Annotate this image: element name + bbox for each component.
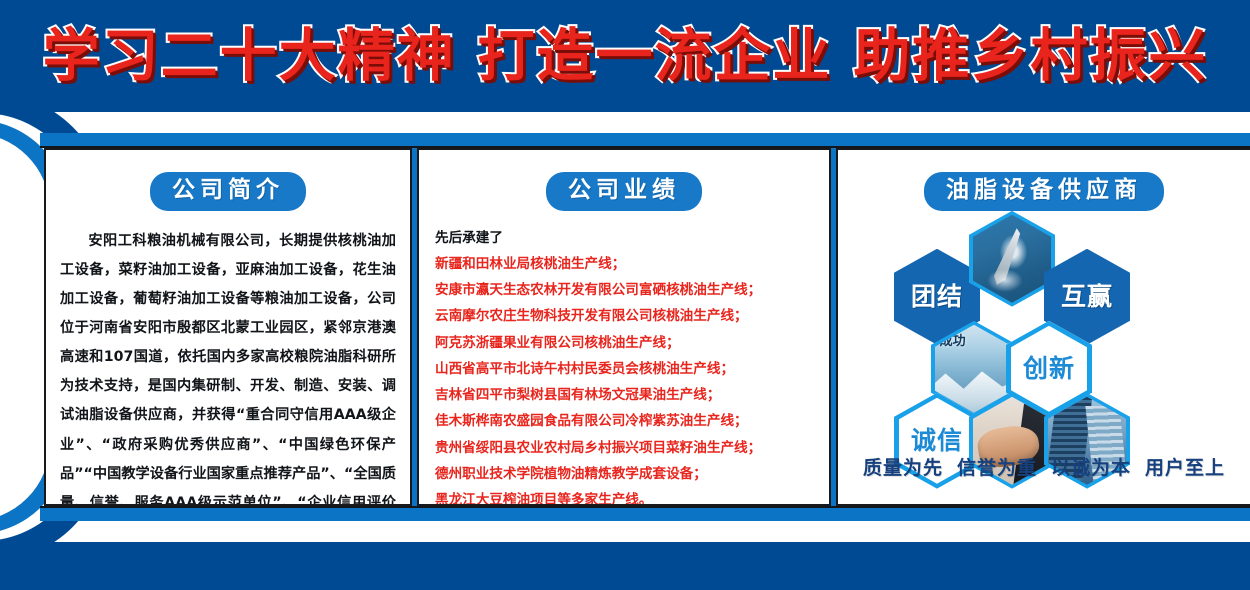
company-performance-badge: 公司业绩 <box>546 172 702 211</box>
performance-project-line: 贵州省绥阳县农业农村局乡村振兴项目菜籽油生产线； <box>435 435 829 461</box>
hex-tuanjie-label: 团结 <box>911 284 963 309</box>
slogan-phrase: 质量为先 <box>863 457 943 479</box>
performance-project-line: 新疆和田林业局核桃油生产线； <box>435 251 829 277</box>
slogan-phrase: 信誉为重 <box>957 457 1037 479</box>
performance-project-line: 阿克苏浙疆果业有限公司核桃油生产线； <box>435 330 829 356</box>
hex-huying-label: 互赢 <box>1061 284 1113 309</box>
right-badge-wrap: 油脂设备供应商 <box>838 172 1250 211</box>
performance-project-line: 云南摩尔农庄生物科技开发有限公司核桃油生产线； <box>435 303 829 329</box>
poster-header: 学习二十大精神 打造一流企业 助推乡村振兴 <box>0 0 1250 112</box>
slogan-phrase: 以诚为本 <box>1051 457 1131 479</box>
company-intro-text: 安阳工科粮油机械有限公司，长期提供核桃油加工设备，菜籽油加工设备，亚麻油加工设备… <box>60 227 396 506</box>
performance-project-line: 吉林省四平市梨树县国有林场文冠果油生产线； <box>435 382 829 408</box>
supplier-slogan: 质量为先信誉为重以诚为本用户至上 <box>838 453 1250 480</box>
header-title: 学习二十大精神 打造一流企业 助推乡村振兴 <box>43 28 1208 85</box>
left-curve-band-inner <box>0 133 50 521</box>
supplier-badge: 油脂设备供应商 <box>924 172 1164 211</box>
panels-row: 公司简介 安阳工科粮油机械有限公司，长期提供核桃油加工设备，菜籽油加工设备，亚麻… <box>44 148 1250 506</box>
left-badge-wrap: 公司简介 <box>46 172 410 211</box>
slogan-phrase: 用户至上 <box>1145 457 1225 479</box>
poster-stage: 公司简介 安阳工科粮油机械有限公司，长期提供核桃油加工设备，菜籽油加工设备，亚麻… <box>0 112 1250 542</box>
bottom-rail-line <box>40 506 1250 508</box>
top-rail <box>40 133 1250 147</box>
panel-supplier: 油脂设备供应商 团结 互赢 <box>836 148 1250 506</box>
company-intro-badge: 公司简介 <box>150 172 306 211</box>
panel-company-intro: 公司简介 安阳工科粮油机械有限公司，长期提供核桃油加工设备，菜籽油加工设备，亚麻… <box>44 148 412 506</box>
poster-root: 学习二十大精神 打造一流企业 助推乡村振兴 公司简介 安阳工科粮油机械有限公司，… <box>0 0 1250 590</box>
hex-chuangxin-label: 创新 <box>1023 356 1075 381</box>
performance-project-line: 德州职业技术学院植物油精炼教学成套设备； <box>435 461 829 487</box>
performance-intro: 先后承建了 <box>435 225 829 251</box>
performance-project-line: 佳木斯桦南农盛园食品有限公司冷榨紫苏油生产线； <box>435 408 829 434</box>
performance-list: 先后承建了 新疆和田林业局核桃油生产线；安康市瀛天生态农林开发有限公司富硒核桃油… <box>435 225 829 506</box>
performance-project-line: 安康市瀛天生态农林开发有限公司富硒核桃油生产线； <box>435 277 829 303</box>
performance-project-lines: 新疆和田林业局核桃油生产线；安康市瀛天生态农林开发有限公司富硒核桃油生产线；云南… <box>435 251 829 506</box>
bottom-rail <box>40 507 1250 521</box>
hex-ship-photo <box>969 211 1055 307</box>
hexagon-cluster: 团结 互赢 成功 <box>838 217 1250 472</box>
performance-project-line: 黑龙江大豆榨油项目等多家生产线。 <box>435 487 829 506</box>
performance-project-line: 山西省高平市北诗午村村民委员会核桃油生产线； <box>435 356 829 382</box>
mid-badge-wrap: 公司业绩 <box>419 172 829 211</box>
hex-chengxin-label: 诚信 <box>911 428 963 453</box>
panel-company-performance: 公司业绩 先后承建了 新疆和田林业局核桃油生产线；安康市瀛天生态农林开发有限公司… <box>417 148 831 506</box>
